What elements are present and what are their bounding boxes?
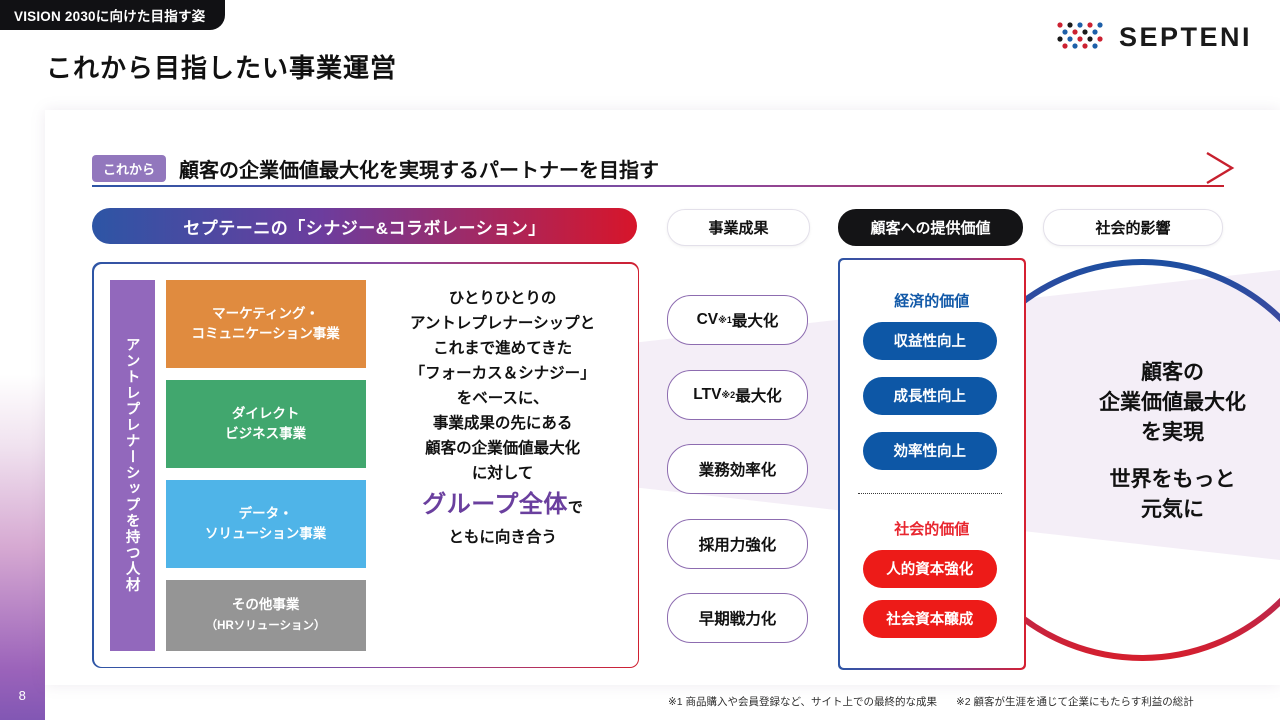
economic-value-item-growth: 成長性向上 xyxy=(863,377,997,415)
business-unit-other: その他事業 （HRソリューション） xyxy=(166,580,366,651)
economic-value-heading: 経済的価値 xyxy=(840,290,1024,311)
footnotes: ※1 商品購入や会員登録など、サイト上での最終的な成果 ※2 顧客が生涯を通じて… xyxy=(668,694,1194,709)
copy-last-line: ともに向き合う xyxy=(379,525,627,550)
column-pill-social-impact: 社会的影響 xyxy=(1043,209,1223,246)
vision-tab-label: VISION 2030に向けた目指す姿 xyxy=(14,5,205,25)
business-unit-data: データ・ ソリューション事業 xyxy=(166,480,366,568)
outcome-pill-efficiency: 業務効率化 xyxy=(667,444,808,494)
copy-line: 顧客の企業価値最大化 xyxy=(379,436,627,461)
business-unit-marketing: マーケティング・ コミュニケーション事業 xyxy=(166,280,366,368)
copy-line: をベースに、 xyxy=(379,386,627,411)
circle-line: 企業価値最大化 xyxy=(1060,388,1280,418)
business-unit-line1: データ・ xyxy=(239,506,293,521)
business-unit-line1: ダイレクト xyxy=(232,406,300,421)
business-portfolio-box: アントレプレナーシップを持つ人材 マーケティング・ コミュニケーション事業 ダイ… xyxy=(92,262,639,668)
copy-line: 事業成果の先にある xyxy=(379,411,627,436)
customer-value-panel: 経済的価値 収益性向上 成長性向上 効率性向上 社会的価値 人的資本強化 社会資… xyxy=(838,258,1026,670)
value-panel-divider xyxy=(858,493,1002,494)
copy-line: 「フォーカス＆シナジー」 xyxy=(379,361,627,386)
economic-value-item-profitability: 収益性向上 xyxy=(863,322,997,360)
business-unit-direct: ダイレクト ビジネス事業 xyxy=(166,380,366,468)
business-unit-line1: その他事業 xyxy=(232,597,300,612)
business-unit-line2: （HRソリューション） xyxy=(206,620,326,632)
column-pill-customer-value: 顧客への提供価値 xyxy=(838,209,1023,246)
septeni-dot-matrix-icon xyxy=(1055,20,1107,54)
korekara-badge: これから xyxy=(92,155,166,182)
vision-tab: VISION 2030に向けた目指す姿 xyxy=(0,0,225,30)
center-copy-block: ひとりひとりの アントレプレナーシップと これまで進めてきた 「フォーカス＆シナ… xyxy=(379,286,627,551)
business-unit-line2: ソリューション事業 xyxy=(205,526,326,541)
copy-emphasis-tail: で xyxy=(568,499,583,516)
footnote-marker: ※1 xyxy=(718,315,732,326)
outcome-pill-cv: CV※1最大化 xyxy=(667,295,808,345)
chevron-right-icon xyxy=(1205,151,1237,185)
talent-vertical-bar: アントレプレナーシップを持つ人材 xyxy=(110,280,155,651)
septeni-logo-text: SEPTENI xyxy=(1119,22,1252,53)
synergy-bar: セプテーニの「シナジー&コラボレーション」 xyxy=(92,208,637,244)
page-title: これから目指したい事業運営 xyxy=(46,48,397,85)
vision-circle-text: 顧客の 企業価値最大化 を実現 世界をもっと 元気に xyxy=(1060,358,1280,525)
copy-line: これまで進めてきた xyxy=(379,336,627,361)
social-value-heading: 社会的価値 xyxy=(840,518,1024,539)
outcome-pill-recruiting: 採用力強化 xyxy=(667,519,808,569)
page-number: 8 xyxy=(0,688,45,703)
business-unit-line2: ビジネス事業 xyxy=(225,426,306,441)
outcome-label: CV xyxy=(697,311,719,329)
footnote-1: ※1 商品購入や会員登録など、サイト上での最終的な成果 xyxy=(668,696,937,708)
business-unit-line2: コミュニケーション事業 xyxy=(191,326,339,341)
column-pill-business-outcome: 事業成果 xyxy=(667,209,810,246)
section-headline: 顧客の企業価値最大化を実現するパートナーを目指す xyxy=(179,154,659,183)
circle-line: 顧客の xyxy=(1060,358,1280,388)
circle-line: を実現 xyxy=(1060,418,1280,448)
left-edge-gradient-strip xyxy=(0,0,45,720)
outcome-pill-onboarding: 早期戦力化 xyxy=(667,593,808,643)
header-rule xyxy=(92,185,1224,187)
economic-value-item-efficiency: 効率性向上 xyxy=(863,432,997,470)
copy-line: に対して xyxy=(379,461,627,486)
social-value-item-human-capital: 人的資本強化 xyxy=(863,550,997,588)
copy-line: アントレプレナーシップと xyxy=(379,311,627,336)
septeni-logo: SEPTENI xyxy=(1055,20,1252,54)
copy-emphasis: グループ全体 xyxy=(422,491,568,518)
outcome-label: LTV xyxy=(693,386,721,404)
outcome-tail: 最大化 xyxy=(735,384,782,406)
business-unit-line1: マーケティング・ xyxy=(212,306,319,321)
footnote-marker: ※2 xyxy=(721,390,735,401)
outcome-pill-ltv: LTV※2最大化 xyxy=(667,370,808,420)
copy-emphasis-row: グループ全体で xyxy=(379,486,627,525)
circle-line: 元気に xyxy=(1060,495,1280,525)
copy-line: ひとりひとりの xyxy=(379,286,627,311)
outcome-tail: 最大化 xyxy=(732,309,779,331)
footnote-2: ※2 顧客が生涯を通じて企業にもたらす利益の総計 xyxy=(956,696,1194,708)
section-header: これから 顧客の企業価値最大化を実現するパートナーを目指す xyxy=(92,150,1242,186)
social-value-item-social-capital: 社会資本醸成 xyxy=(863,600,997,638)
circle-line: 世界をもっと xyxy=(1060,465,1280,495)
